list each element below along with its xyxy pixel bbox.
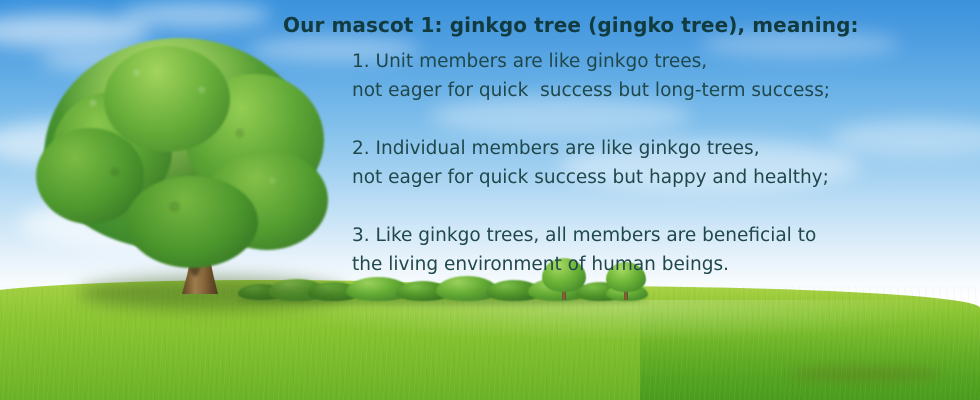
mascot-meaning-item-2: 2. Individual members are like ginkgo tr… — [352, 134, 829, 192]
mascot-banner: Our mascot 1: ginkgo tree (gingko tree),… — [0, 0, 980, 400]
mascot-meaning-item-3: 3. Like ginkgo trees, all members are be… — [352, 221, 816, 279]
mascot-meaning-item-1: 1. Unit members are like ginkgo trees, n… — [352, 47, 830, 105]
banner-text-layer: Our mascot 1: ginkgo tree (gingko tree),… — [0, 0, 980, 400]
banner-headline: Our mascot 1: ginkgo tree (gingko tree),… — [283, 13, 859, 37]
